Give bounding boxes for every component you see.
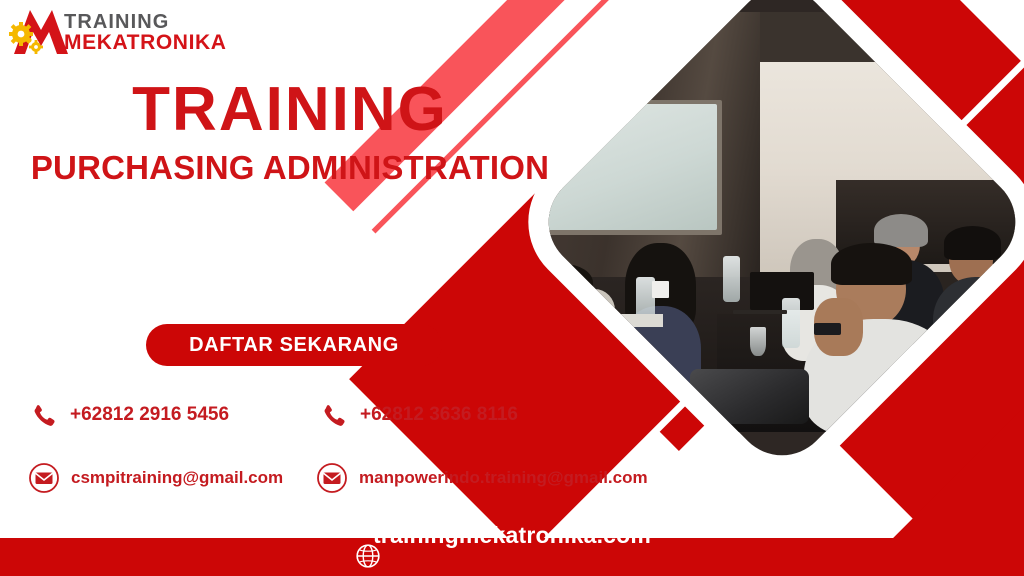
- logo-line-mekatronika: MEKATRONIKA: [64, 32, 227, 55]
- photo-bottle: [782, 298, 800, 348]
- envelope-icon: [316, 462, 348, 494]
- logo-wordmark: TRAINING MEKATRONIKA: [64, 12, 227, 55]
- brand-logo[interactable]: TRAINING MEKATRONIKA: [8, 4, 228, 62]
- register-now-button[interactable]: DAFTAR SEKARANG: [146, 324, 442, 366]
- photo-cable: [733, 310, 787, 314]
- globe-icon: [355, 543, 381, 569]
- training-photo: [529, 0, 1024, 475]
- photo-cup: [652, 281, 668, 298]
- phone-icon: [320, 400, 346, 430]
- logo-line-training: TRAINING: [64, 12, 227, 32]
- page-subtitle: PURCHASING ADMINISTRATION: [0, 151, 580, 186]
- photo-bottle: [723, 256, 740, 302]
- email-address: csmpitraining@gmail.com: [71, 468, 283, 488]
- phone-contact-row: +62812 2916 5456 +62812 3636 8116: [30, 400, 590, 430]
- promo-poster: TRAINING MEKATRONIKA TRAINING PURCHASING…: [0, 0, 1024, 576]
- photo-person-hair: [874, 214, 928, 248]
- page-title: TRAINING: [0, 78, 580, 141]
- photo-foreground-hair: [831, 243, 912, 285]
- photo-content: [529, 12, 1024, 432]
- photo-ceiling-band: [760, 12, 1024, 62]
- photo-person-hair: [944, 226, 1001, 260]
- email-address: manpowerindo.training@gmail.com: [359, 468, 648, 488]
- phone-contact-1[interactable]: +62812 2916 5456: [30, 400, 320, 430]
- email-contact-1[interactable]: csmpitraining@gmail.com: [28, 462, 316, 494]
- email-contact-2[interactable]: manpowerindo.training@gmail.com: [316, 462, 648, 494]
- envelope-icon: [28, 462, 60, 494]
- phone-contact-2[interactable]: +62812 3636 8116: [320, 400, 518, 430]
- phone-icon: [30, 400, 56, 430]
- website-url[interactable]: trainingmekatronika.com: [0, 522, 1024, 549]
- headline-block: TRAINING PURCHASING ADMINISTRATION: [0, 78, 580, 186]
- photo-person-body: [529, 314, 599, 406]
- phone-number: +62812 2916 5456: [70, 404, 229, 426]
- photo-wristwatch: [814, 323, 841, 336]
- photo-glass: [750, 327, 766, 356]
- phone-number: +62812 3636 8116: [360, 404, 518, 426]
- email-contact-row: csmpitraining@gmail.com manpowerindo.tra…: [28, 462, 708, 494]
